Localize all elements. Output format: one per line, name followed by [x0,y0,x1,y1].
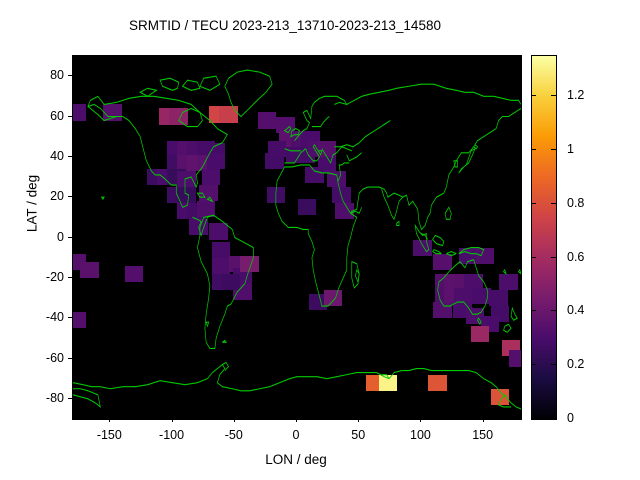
coastline-layer [73,56,521,419]
colorbar-tick-mark [531,149,536,150]
x-tick-mark [358,418,359,422]
x-tick-label: 150 [472,428,493,442]
colorbar-tick-mark [531,257,536,258]
x-tick-mark [109,418,110,422]
colorbar [531,55,557,420]
x-tick-mark [172,418,173,422]
map-plot-area [72,55,522,420]
x-tick-label: -100 [159,428,184,442]
y-tick-label: -40 [10,310,64,324]
y-tick-label: -80 [10,391,64,405]
colorbar-tick-label: 0 [567,411,574,425]
x-tick-mark [296,418,297,422]
colorbar-tick-label: 0.2 [567,357,584,371]
x-tick-label: 100 [410,428,431,442]
x-tick-label: 50 [351,428,365,442]
y-tick-mark [68,116,72,117]
y-tick-mark [68,237,72,238]
colorbar-tick-mark [531,418,536,419]
y-tick-mark [68,75,72,76]
y-tick-mark [68,358,72,359]
colorbar-tick-mark [551,203,556,204]
colorbar-tick-label: 1 [567,142,574,156]
colorbar-tick-mark [531,364,536,365]
colorbar-tick-mark [551,364,556,365]
y-tick-mark [68,156,72,157]
y-tick-mark [68,398,72,399]
x-tick-mark [483,418,484,422]
colorbar-tick-label: 0.4 [567,303,584,317]
x-tick-label: -150 [97,428,122,442]
colorbar-tick-mark [531,95,536,96]
colorbar-tick-mark [551,310,556,311]
x-tick-label: -50 [225,428,243,442]
colorbar-tick-mark [531,203,536,204]
colorbar-tick-label: 1.2 [567,88,584,102]
y-tick-label: 80 [10,68,64,82]
y-tick-mark [68,277,72,278]
colorbar-tick-mark [531,310,536,311]
colorbar-tick-mark [551,149,556,150]
colorbar-tick-mark [551,257,556,258]
x-tick-mark [234,418,235,422]
y-tick-label: -60 [10,351,64,365]
colorbar-tick-mark [551,95,556,96]
x-tick-label: 0 [293,428,300,442]
y-axis-label: LAT / deg [25,144,40,264]
y-tick-mark [68,317,72,318]
colorbar-tick-mark [551,418,556,419]
colorbar-tick-label: 0.8 [567,196,584,210]
y-tick-label: -20 [10,270,64,284]
chart-page: SRMTID / TECU 2023-213_13710-2023-213_14… [0,0,640,480]
colorbar-tick-label: 0.6 [567,250,584,264]
y-tick-mark [68,196,72,197]
x-tick-mark [420,418,421,422]
x-axis-label: LON / deg [72,452,520,467]
y-tick-label: 60 [10,109,64,123]
page-title: SRMTID / TECU 2023-213_13710-2023-213_14… [0,18,570,33]
